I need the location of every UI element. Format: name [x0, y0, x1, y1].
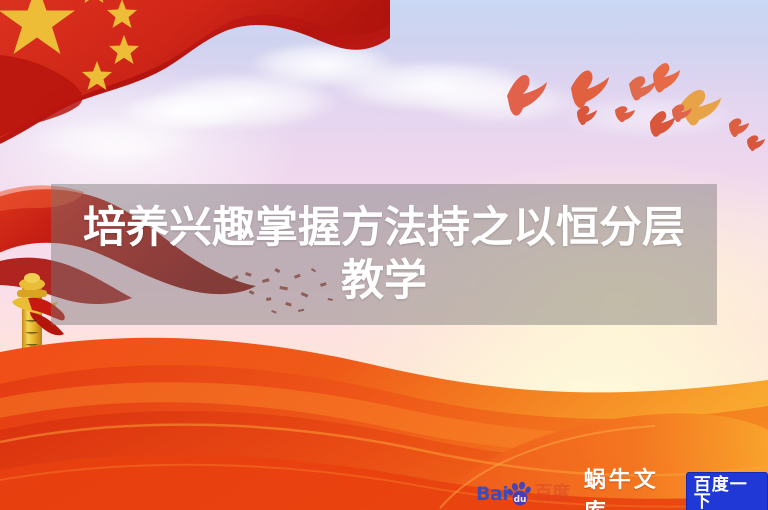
baidu-logo-chinese: 百度	[534, 485, 570, 503]
title-overlay-panel: 培养兴趣掌握方法持之以恒分层 教学	[51, 184, 717, 325]
flying-birds-icon	[495, 52, 768, 162]
baidu-logo-latin: Bai	[476, 485, 508, 504]
poster-canvas: 培养兴趣掌握方法持之以恒分层 教学 Bai du 百度 蜗牛文库 百度一下	[0, 0, 768, 510]
site-name-watermark: 蜗牛文库	[584, 462, 676, 510]
baidu-search-button[interactable]: 百度一下	[686, 472, 768, 510]
baidu-logo: Bai du 百度	[476, 481, 572, 507]
baidu-paw-label: du	[514, 495, 527, 505]
title-line-2: 教学	[64, 255, 704, 307]
page-title: 培养兴趣掌握方法持之以恒分层 教学	[64, 202, 704, 307]
title-line-1: 培养兴趣掌握方法持之以恒分层	[64, 202, 704, 254]
baidu-paw-icon: du	[507, 482, 533, 506]
chinese-flag-icon	[0, 0, 390, 160]
watermark-bar: Bai du 百度 蜗牛文库 百度一下	[476, 479, 768, 509]
